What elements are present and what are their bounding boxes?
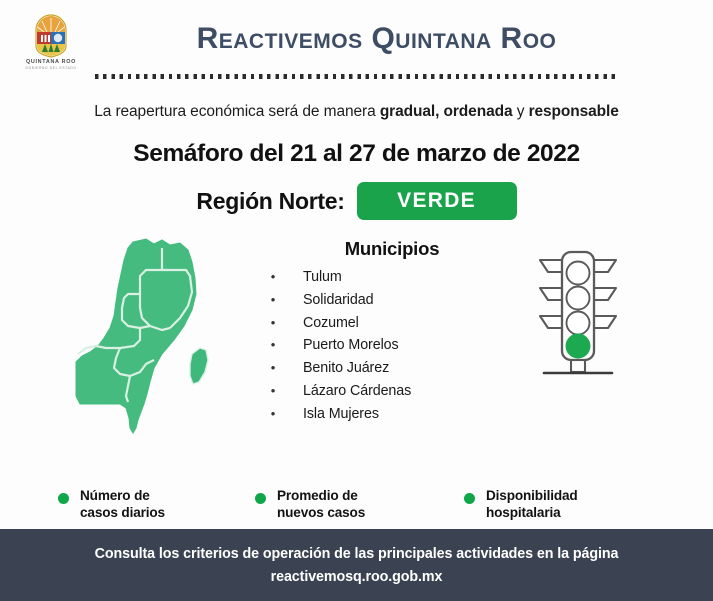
indicator-label: Promedio de nuevos casos bbox=[277, 488, 365, 521]
logo-subcaption: GOBIERNO DEL ESTADO bbox=[22, 66, 80, 70]
bullet-icon: • bbox=[268, 357, 278, 380]
list-item: • Tulum bbox=[268, 266, 498, 289]
bullet-icon: • bbox=[268, 334, 278, 357]
municipio-name: Puerto Morelos bbox=[303, 334, 399, 357]
dotted-divider bbox=[95, 74, 618, 79]
municipio-name: Isla Mujeres bbox=[303, 403, 379, 426]
region-label: Región Norte: bbox=[196, 188, 344, 215]
region-status-row: Región Norte: VERDE bbox=[0, 182, 713, 220]
page-title: Reactivemos Quintana Roo bbox=[0, 24, 713, 54]
bullet-icon: • bbox=[268, 289, 278, 312]
indicators-row: Número de casos diarios Promedio de nuev… bbox=[0, 488, 713, 521]
indicator-line-1: Promedio de bbox=[277, 488, 358, 503]
subtitle-bold-2: responsable bbox=[529, 103, 619, 120]
indicator-line-2: nuevos casos bbox=[277, 505, 365, 520]
green-dot-icon bbox=[58, 493, 69, 504]
indicator-label: Número de casos diarios bbox=[80, 488, 165, 521]
list-item: • Puerto Morelos bbox=[268, 334, 498, 357]
indicator-line-2: casos diarios bbox=[80, 505, 165, 520]
municipio-name: Tulum bbox=[303, 266, 342, 289]
footer-bar: Consulta los criterios de operación de l… bbox=[0, 529, 713, 601]
bullet-icon: • bbox=[268, 380, 278, 403]
bullet-icon: • bbox=[268, 403, 278, 426]
bullet-icon: • bbox=[268, 312, 278, 335]
footer-text: Consulta los criterios de operación de l… bbox=[95, 546, 619, 562]
municipios-list: • Tulum • Solidaridad • Cozumel • Puerto… bbox=[268, 266, 498, 426]
footer-website-url[interactable]: reactivemosq.roo.gob.mx bbox=[271, 569, 443, 585]
municipio-name: Lázaro Cárdenas bbox=[303, 380, 411, 403]
green-dot-icon bbox=[255, 493, 266, 504]
indicator-casos-diarios: Número de casos diarios bbox=[58, 488, 249, 521]
indicator-line-2: hospitalaria bbox=[486, 505, 561, 520]
logo-caption: QUINTANA ROO bbox=[22, 59, 80, 65]
traffic-light-icon bbox=[518, 242, 638, 392]
subtitle: La reapertura económica será de manera g… bbox=[0, 103, 713, 121]
list-item: • Cozumel bbox=[268, 312, 498, 335]
green-dot-icon bbox=[464, 493, 475, 504]
municipio-name: Cozumel bbox=[303, 312, 359, 335]
list-item: • Lázaro Cárdenas bbox=[268, 380, 498, 403]
list-item: • Isla Mujeres bbox=[268, 403, 498, 426]
municipio-name: Benito Juárez bbox=[303, 357, 389, 380]
main-content: Municipios • Tulum • Solidaridad • Cozum… bbox=[0, 234, 713, 529]
infographic-poster: QUINTANA ROO GOBIERNO DEL ESTADO Reactiv… bbox=[0, 0, 713, 601]
indicator-promedio-nuevos-casos: Promedio de nuevos casos bbox=[249, 488, 446, 521]
subtitle-middle: y bbox=[512, 103, 528, 120]
municipios-block: Municipios • Tulum • Solidaridad • Cozum… bbox=[268, 238, 498, 426]
municipio-name: Solidaridad bbox=[303, 289, 373, 312]
indicator-disponibilidad-hospitalaria: Disponibilidad hospitalaria bbox=[446, 488, 655, 521]
indicator-label: Disponibilidad hospitalaria bbox=[486, 488, 578, 521]
header: QUINTANA ROO GOBIERNO DEL ESTADO Reactiv… bbox=[0, 0, 713, 92]
semaforo-heading: Semáforo del 21 al 27 de marzo de 2022 bbox=[0, 140, 713, 168]
bullet-icon: • bbox=[268, 266, 278, 289]
indicator-line-1: Número de bbox=[80, 488, 150, 503]
list-item: • Benito Juárez bbox=[268, 357, 498, 380]
indicator-line-1: Disponibilidad bbox=[486, 488, 578, 503]
quintana-roo-state-map-icon bbox=[58, 236, 238, 436]
municipios-title: Municipios bbox=[286, 238, 498, 260]
subtitle-prefix: La reapertura económica será de manera bbox=[94, 103, 380, 120]
status-badge: VERDE bbox=[357, 182, 517, 220]
list-item: • Solidaridad bbox=[268, 289, 498, 312]
subtitle-bold-1: gradual, ordenada bbox=[380, 103, 513, 120]
